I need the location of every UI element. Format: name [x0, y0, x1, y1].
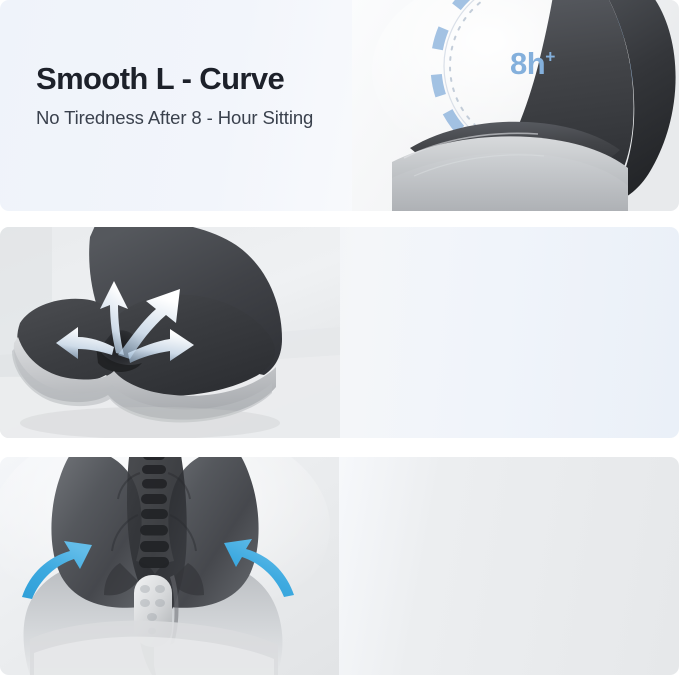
hollow-cushion-artwork: [0, 227, 340, 438]
feature-panel-smooth-l-curve: 8h+ Smooth L - Curve No Tiredness After …: [0, 0, 679, 211]
l-curve-cushion-artwork: [352, 0, 679, 211]
eight-hour-badge: 8h+: [510, 48, 555, 79]
infographic-root: 8h+ Smooth L - Curve No Tiredness After …: [0, 0, 679, 675]
panel-1-subline: No Tiredness After 8 - Hour Sitting: [36, 107, 313, 129]
panel-1-text-block: Smooth L - Curve No Tiredness After 8 - …: [36, 63, 313, 129]
spine-alignment-artwork: [0, 457, 339, 675]
feature-panel-enlarged-hollow-design: Enlarged Hollow Design Painful Areas Avo…: [0, 227, 679, 438]
panel-1-headline: Smooth L - Curve: [36, 63, 313, 96]
badge-superscript: +: [545, 47, 555, 67]
feature-panel-fits-the-spinal-curve: Fits the Spinal Curve comfortable leg pr…: [0, 457, 679, 675]
badge-value: 8h: [510, 46, 545, 81]
